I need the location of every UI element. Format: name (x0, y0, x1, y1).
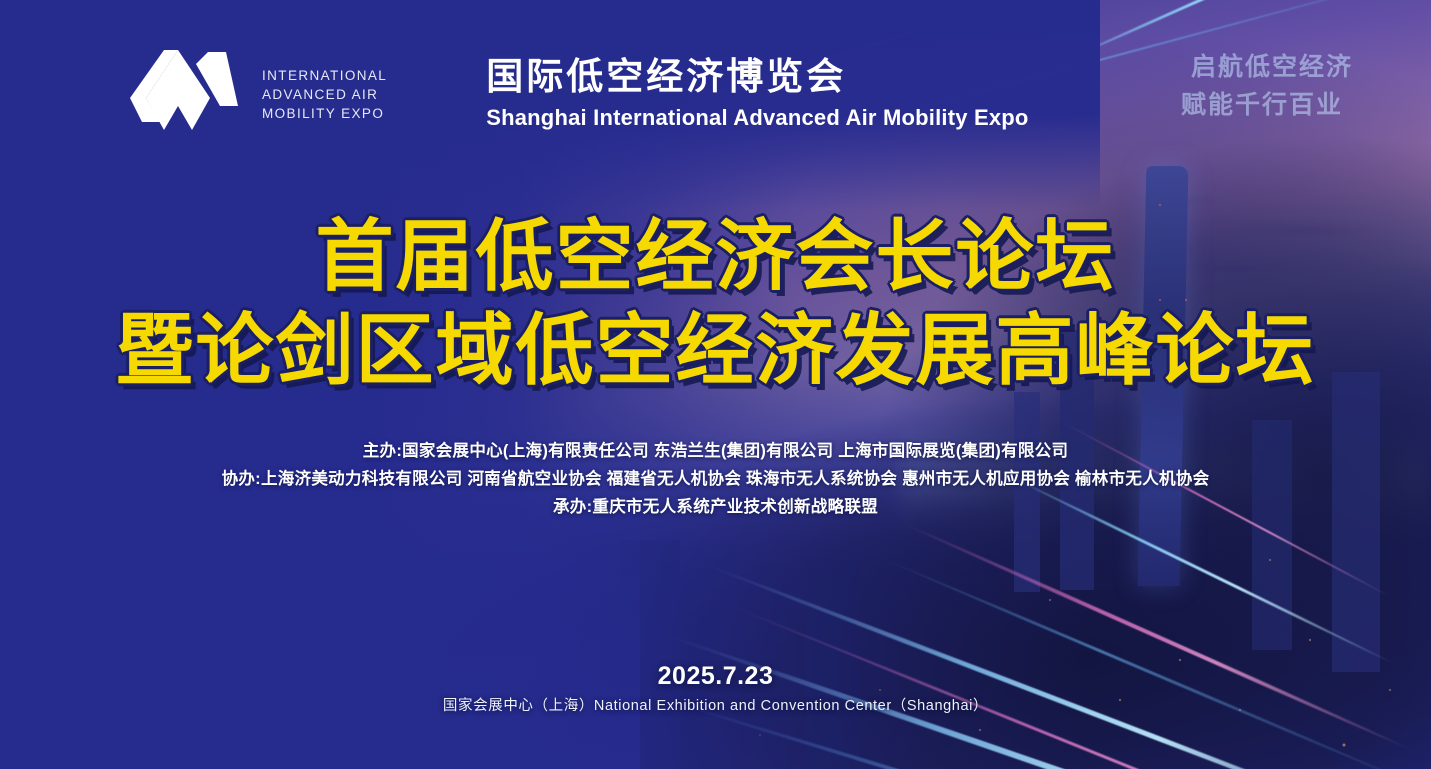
host-line: 主办:国家会展中心(上海)有限责任公司 东浩兰生(集团)有限公司 上海市国际展览… (0, 437, 1431, 465)
logo-tagline-line-1: INTERNATIONAL (262, 66, 387, 85)
banner-footer: 2025.7.23 国家会展中心（上海）National Exhibition … (0, 660, 1431, 718)
organizer-block: 主办:国家会展中心(上海)有限责任公司 东浩兰生(集团)有限公司 上海市国际展览… (0, 437, 1431, 521)
forum-title-line-2: 暨论剑区域低空经济发展高峰论坛 (0, 302, 1431, 398)
forum-main-title: 首届低空经济会长论坛 暨论剑区域低空经济发展高峰论坛 (0, 208, 1431, 398)
event-date: 2025.7.23 (0, 660, 1431, 692)
event-banner: INTERNATIONAL ADVANCED AIR MOBILITY EXPO… (0, 0, 1431, 769)
expo-titles: 国际低空经济博览会 Shanghai International Advance… (486, 55, 1028, 133)
aam-expo-m-logo-icon (130, 46, 242, 142)
expo-title-en: Shanghai International Advanced Air Mobi… (486, 103, 1028, 133)
slogan-line-1: 启航低空经济 (1181, 48, 1353, 86)
organizer-line: 承办:重庆市无人系统产业技术创新战略联盟 (0, 493, 1431, 521)
banner-header: INTERNATIONAL ADVANCED AIR MOBILITY EXPO… (130, 46, 1029, 142)
forum-title-line-1: 首届低空经济会长论坛 (0, 208, 1431, 304)
logo-tagline-line-2: ADVANCED AIR (262, 85, 387, 104)
expo-title-cn: 国际低空经济博览会 (486, 55, 1028, 99)
slogan-line-2: 赋能千行百业 (1181, 86, 1353, 124)
header-divider (425, 51, 426, 137)
co-host-line: 协办:上海济美动力科技有限公司 河南省航空业协会 福建省无人机协会 珠海市无人系… (0, 465, 1431, 493)
banner-slogan: 启航低空经济 赋能千行百业 (1181, 48, 1353, 124)
logo-tagline-line-3: MOBILITY EXPO (262, 104, 387, 123)
logo-tagline: INTERNATIONAL ADVANCED AIR MOBILITY EXPO (262, 66, 387, 123)
event-venue: 国家会展中心（上海）National Exhibition and Conven… (0, 694, 1431, 718)
